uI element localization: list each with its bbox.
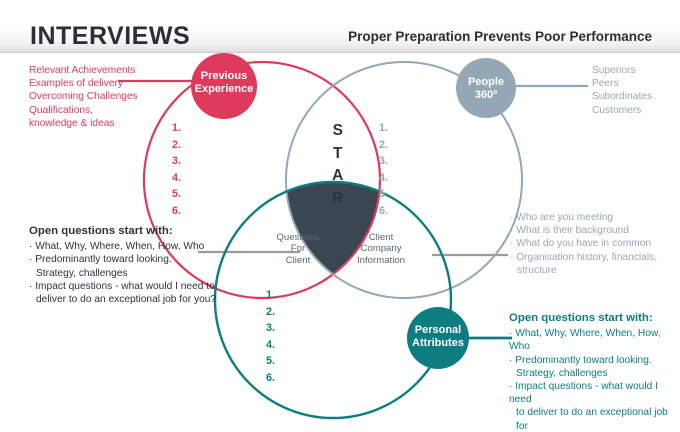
label-line-2: Attributes (412, 337, 464, 349)
label-line-1: Previous (201, 70, 247, 82)
label-personal-attributes: Personal Attributes (398, 324, 478, 350)
label-line: Company (341, 243, 421, 254)
list-item: 6. (172, 203, 181, 220)
list-item: 3. (172, 153, 181, 170)
numbered-list-previous-experience: 1. 2. 3. 4. 5. 6. (172, 120, 181, 220)
list-item: 3. (379, 153, 388, 170)
open-questions-heading: Open questions start with: (509, 312, 680, 325)
open-questions-line: deliver to do an exceptional job for you… (29, 293, 289, 306)
note-line: · Who are you meeting (510, 211, 680, 224)
note-line: · Organisation history, financials, (510, 251, 680, 264)
label-line-1: People (468, 76, 504, 88)
label-previous-experience: Previous Experience (182, 70, 266, 96)
note-line: · What is their background (510, 224, 680, 237)
label-line-1: Personal (415, 324, 461, 336)
note-line: knowledge & ideas (29, 117, 179, 130)
list-item: 6. (266, 370, 275, 387)
list-item: 6. (379, 203, 388, 220)
note-line: Subordinates (592, 90, 680, 103)
notes-previous-experience: Relevant Achievements Examples of delive… (29, 64, 179, 130)
note-line: Superiors (592, 64, 680, 77)
open-questions-left: Open questions start with: · What, Why, … (29, 225, 289, 306)
label-line-2: 360º (475, 89, 497, 101)
label-people-360: People 360º (447, 76, 525, 102)
label-line-2: Experience (195, 83, 254, 95)
open-questions-line: to deliver to do an exceptional job for (509, 406, 680, 432)
list-item: 2. (172, 137, 181, 154)
open-questions-line: · Predominantly toward looking. (509, 354, 680, 367)
note-line: Qualifications, (29, 104, 179, 117)
note-line: Peers (592, 77, 680, 90)
notes-client-company: · Who are you meeting · What is their ba… (510, 211, 680, 277)
note-line: Customers (592, 104, 680, 117)
list-item: 5. (172, 186, 181, 203)
star-letter: S (321, 120, 355, 143)
label-line: Information (341, 255, 421, 266)
open-questions-line: · What, Why, Where, When, How, Who (509, 327, 680, 353)
open-questions-line: · Impact questions - what would I need t… (29, 280, 289, 293)
list-item: 4. (266, 337, 275, 354)
list-item: 1. (172, 120, 181, 137)
open-questions-right: Open questions start with: · What, Why, … (509, 312, 680, 432)
label-client-company-information: Client Company Information (341, 232, 421, 266)
list-item: 5. (379, 186, 388, 203)
star-letter: R (321, 188, 355, 211)
list-item: 5. (266, 353, 275, 370)
list-item: 3. (266, 320, 275, 337)
numbered-list-people-360: 1. 2. 3. 4. 5. 6. (379, 120, 388, 220)
list-item: 2. (379, 137, 388, 154)
note-line: · What do you have in common (510, 237, 680, 250)
list-item: 4. (172, 170, 181, 187)
star-acronym: S T A R (321, 120, 355, 210)
star-letter: T (321, 143, 355, 166)
note-line: Overcoming Challenges (29, 90, 179, 103)
note-line: Relevant Achievements (29, 64, 179, 77)
list-item: 4. (379, 170, 388, 187)
list-item: 1. (379, 120, 388, 137)
note-line: structure (510, 264, 680, 277)
open-questions-line: · Predominantly toward looking. (29, 253, 289, 266)
label-line: Client (341, 232, 421, 243)
open-questions-heading: Open questions start with: (29, 225, 289, 238)
star-letter: A (321, 165, 355, 188)
venn-diagram-slide: INTERVIEWS Proper Preparation Prevents P… (0, 0, 680, 432)
open-questions-line: Strategy, challenges (509, 367, 680, 380)
open-questions-line: · Impact questions - what would I need (509, 380, 680, 406)
notes-people-360: Superiors Peers Subordinates Customers (592, 64, 680, 117)
open-questions-line: · What, Why, Where, When, How, Who (29, 240, 289, 253)
note-line: Examples of delivery (29, 77, 179, 90)
open-questions-line: Strategy, challenges (29, 267, 289, 280)
